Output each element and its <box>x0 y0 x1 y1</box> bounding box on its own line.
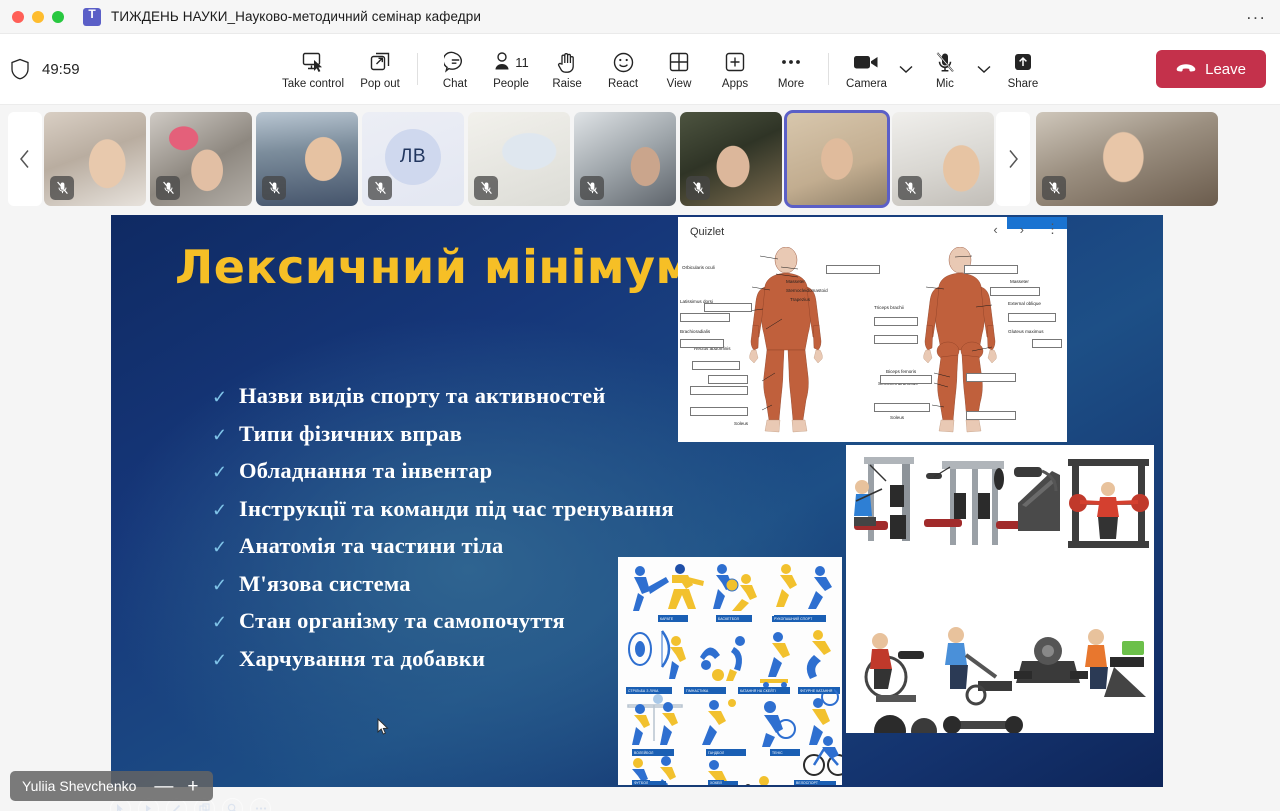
sport-caption: ГАНДБОЛ <box>706 749 726 756</box>
pop-out-icon <box>369 49 391 75</box>
view-grid-icon <box>668 49 690 75</box>
toolbar-left-group: 49:59 <box>0 58 262 80</box>
list-item: ✓ Інструкції та команди під час тренуван… <box>212 496 674 522</box>
pop-out-label: Pop out <box>360 78 400 90</box>
sport-caption: КАРАТЕ <box>658 615 675 622</box>
anatomy-answer-box[interactable] <box>708 375 748 384</box>
pop-out-button[interactable]: Pop out <box>352 46 408 92</box>
gym-equipment-image <box>846 445 1154 733</box>
list-item: ✓ Стан організму та самопочуття <box>212 608 674 634</box>
window-title-bar: ТИЖДЕНЬ НАУКИ_Науково-методичний семінар… <box>0 0 1280 34</box>
close-window-button[interactable] <box>12 11 24 23</box>
list-item: ✓ М'язова система <box>212 571 674 597</box>
filmstrip-next-button[interactable] <box>996 112 1030 206</box>
list-item: ✓ Анатомія та частини тіла <box>212 533 674 559</box>
participant-filmstrip: ЛВ <box>0 105 1280 213</box>
anatomy-diagram: Orbicularis oculi Masseter Sternocleidom… <box>678 243 1067 442</box>
more-ellipsis-icon <box>779 49 803 75</box>
anatomy-answer-box[interactable] <box>966 411 1016 420</box>
more-tools-icon[interactable] <box>250 798 271 811</box>
participant-tile-5[interactable] <box>468 112 570 206</box>
raise-label: Raise <box>552 78 581 90</box>
zoom-controls: — + <box>148 771 212 801</box>
react-button[interactable]: React <box>595 46 651 92</box>
avatar: ЛВ <box>385 129 441 185</box>
anatomy-label: Gluteus maximus <box>1008 329 1044 334</box>
camera-icon <box>852 49 880 75</box>
sport-caption: ХОКЕЙ <box>708 779 724 785</box>
check-icon: ✓ <box>212 463 228 481</box>
bullet-text: Харчування та добавки <box>239 646 485 672</box>
camera-label: Camera <box>846 78 887 90</box>
mic-muted-icon <box>474 176 498 200</box>
people-button[interactable]: 11 People <box>483 46 539 92</box>
camera-options-chevron-down-icon[interactable] <box>895 54 917 84</box>
anatomy-answer-box[interactable] <box>880 375 932 384</box>
shared-content-stage: Лексичний мінімум ✓ Назви видів спорту т… <box>0 213 1280 811</box>
slide-title: Лексичний мінімум <box>175 240 694 294</box>
camera-button[interactable]: Camera <box>838 46 895 92</box>
anatomy-label: Brachioradialis <box>680 329 710 334</box>
share-up-arrow-icon <box>1012 49 1034 75</box>
anatomy-answer-box[interactable] <box>874 335 918 344</box>
bullet-text: Типи фізичних вправ <box>239 421 462 447</box>
mic-muted-icon <box>262 176 286 200</box>
presenter-controls: Yuliia Shevchenko — + <box>10 771 213 801</box>
check-icon: ✓ <box>212 538 228 556</box>
mic-muted-icon <box>50 176 74 200</box>
check-icon: ✓ <box>212 651 228 669</box>
anatomy-label: Biceps femoris <box>886 369 916 374</box>
quizlet-menu-button[interactable]: ⋮ <box>1046 221 1059 237</box>
sport-caption: ВОЛЕЙБОЛ <box>632 749 655 756</box>
anatomy-answer-box[interactable] <box>874 403 930 412</box>
list-item: ✓ Назви видів спорту та активностей <box>212 383 674 409</box>
view-label: View <box>667 78 692 90</box>
anatomy-label: Masseter <box>1010 279 1029 284</box>
presentation-slide[interactable]: Лексичний мінімум ✓ Назви видів спорту т… <box>111 215 1163 787</box>
take-control-button[interactable]: Take control <box>274 46 352 92</box>
take-control-label: Take control <box>282 78 344 90</box>
quizlet-header: Quizlet ‹ › ⋮ <box>678 217 1067 243</box>
magnifier-tool-icon[interactable] <box>222 798 243 811</box>
participant-tile-4[interactable]: ЛВ <box>362 112 464 206</box>
participant-tile-6[interactable] <box>574 112 676 206</box>
sport-caption: БАСКЕТБОЛ <box>716 615 741 622</box>
sport-caption: ФІГУРНЕ КАТАННЯ <box>798 687 834 694</box>
bullet-text: Обладнання та інвентар <box>239 458 492 484</box>
sport-caption: ГІМНАСТИКА <box>684 687 710 694</box>
check-icon: ✓ <box>212 576 228 594</box>
mic-muted-icon <box>156 176 180 200</box>
leave-button[interactable]: Leave <box>1156 50 1266 88</box>
quizlet-nav: ‹ › ⋮ <box>993 221 1059 237</box>
participant-tile-3[interactable] <box>256 112 358 206</box>
bullet-text: М'язова система <box>239 571 411 597</box>
bullet-text: Назви видів спорту та активностей <box>239 383 606 409</box>
sport-caption: ТЕНІС <box>770 749 785 756</box>
chat-icon <box>444 49 467 75</box>
people-count: 11 <box>515 55 529 70</box>
quizlet-anatomy-card: Quizlet ‹ › ⋮ <box>678 217 1067 442</box>
quizlet-next-button[interactable]: › <box>1020 222 1024 237</box>
anatomy-answer-box[interactable] <box>1032 339 1062 348</box>
shield-icon <box>10 58 30 80</box>
maximize-window-button[interactable] <box>52 11 64 23</box>
anatomy-answer-box[interactable] <box>690 407 748 416</box>
sport-caption: РУКОПАШНИЙ СПОРТ <box>772 615 814 622</box>
anatomy-answer-box[interactable] <box>826 265 880 274</box>
filmstrip-prev-button[interactable] <box>8 112 42 206</box>
anatomy-answer-box[interactable] <box>966 373 1016 382</box>
react-label: React <box>608 78 638 90</box>
toolbar-divider-1 <box>417 53 418 85</box>
anatomy-label: Trapezius <box>790 297 810 302</box>
anatomy-label: Soleus <box>890 415 904 420</box>
window-title: ТИЖДЕНЬ НАУКИ_Науково-методичний семінар… <box>111 9 481 24</box>
sport-caption: ВЕЛОСПОРТ <box>794 779 820 785</box>
quizlet-prev-button[interactable]: ‹ <box>993 222 997 237</box>
check-icon: ✓ <box>212 501 228 519</box>
mic-muted-icon <box>368 176 392 200</box>
quizlet-logo: Quizlet <box>690 226 724 238</box>
share-label: Share <box>1008 78 1039 90</box>
mic-button[interactable]: Mic <box>917 46 973 92</box>
anatomy-answer-box[interactable] <box>680 313 730 322</box>
anatomy-answer-box[interactable] <box>964 265 1018 274</box>
meeting-toolbar: 49:59 Take control Pop out <box>0 34 1280 105</box>
anatomy-answer-box[interactable] <box>704 303 752 312</box>
gym-equipment-illustration <box>846 445 1154 733</box>
mic-muted-icon <box>1042 176 1066 200</box>
check-icon: ✓ <box>212 388 228 406</box>
people-label: People <box>493 78 529 90</box>
participant-tile-8-active-speaker[interactable] <box>786 112 888 206</box>
check-icon: ✓ <box>212 426 228 444</box>
mic-muted-icon <box>898 176 922 200</box>
window-traffic-lights[interactable] <box>12 11 64 23</box>
anatomy-answer-box[interactable] <box>680 339 724 348</box>
participant-tile-10[interactable] <box>1036 112 1218 206</box>
take-control-icon <box>301 49 325 75</box>
anatomy-label: Sternocleidomastoid <box>786 288 828 293</box>
list-item: ✓ Обладнання та інвентар <box>212 458 674 484</box>
zoom-in-button[interactable]: + <box>187 777 198 796</box>
mic-muted-icon <box>580 176 604 200</box>
react-smiley-icon <box>612 49 635 75</box>
slide-bullet-list: ✓ Назви видів спорту та активностей ✓ Ти… <box>212 383 674 672</box>
phone-hangup-icon <box>1176 63 1196 76</box>
sport-caption: КАТАННЯ НА СКЕЙТІ <box>738 687 778 694</box>
mic-options-chevron-down-icon[interactable] <box>973 54 995 84</box>
meeting-timer: 49:59 <box>42 61 80 78</box>
share-button[interactable]: Share <box>995 46 1051 92</box>
leave-button-label: Leave <box>1205 61 1246 78</box>
sports-pictograms-image: КАРАТЕ БАСКЕТБОЛ РУКОПАШНИЙ СПОРТ СТРІЛЬ… <box>618 557 842 785</box>
apps-label: Apps <box>722 78 748 90</box>
more-label: More <box>778 78 804 90</box>
participant-tile-2[interactable] <box>150 112 252 206</box>
participant-tile-9[interactable] <box>892 112 994 206</box>
apps-button[interactable]: Apps <box>707 46 763 92</box>
anatomy-label: Orbicularis oculi <box>682 265 715 270</box>
bullet-text: Інструкції та команди під час тренування <box>239 496 674 522</box>
people-icon: 11 <box>493 49 529 75</box>
raise-hand-icon <box>556 49 578 75</box>
anatomy-answer-box[interactable] <box>1008 313 1056 322</box>
participant-tile-7[interactable] <box>680 112 782 206</box>
list-item: ✓ Типи фізичних вправ <box>212 421 674 447</box>
bullet-text: Стан організму та самопочуття <box>239 608 565 634</box>
participant-tile-1[interactable] <box>44 112 146 206</box>
participant-tiles: ЛВ <box>44 112 994 206</box>
bullet-text: Анатомія та частини тіла <box>239 533 504 559</box>
toolbar-right-group: Leave <box>1146 50 1280 88</box>
sport-caption: ФУТБОЛ <box>632 779 650 785</box>
list-item: ✓ Харчування та добавки <box>212 646 674 672</box>
mic-muted-icon <box>686 176 710 200</box>
teams-icon <box>83 8 101 26</box>
toolbar-divider-2 <box>828 53 829 85</box>
mic-label: Mic <box>936 78 954 90</box>
raise-hand-button[interactable]: Raise <box>539 46 595 92</box>
anatomy-answer-box[interactable] <box>692 361 740 370</box>
view-button[interactable]: View <box>651 46 707 92</box>
sport-caption: СТРІЛЬБА З ЛУКА <box>626 687 661 694</box>
anatomy-label: Triceps brachii <box>874 305 904 310</box>
anatomy-answer-box[interactable] <box>990 287 1040 296</box>
minimize-window-button[interactable] <box>32 11 44 23</box>
chat-label: Chat <box>443 78 467 90</box>
apps-plus-icon <box>724 49 746 75</box>
anterior-body-figure <box>740 247 832 437</box>
toolbar-center-group: Take control Pop out Chat <box>262 46 1146 92</box>
anatomy-label: Masseter <box>786 279 805 284</box>
anatomy-label: Soleus <box>734 421 748 426</box>
anatomy-answer-box[interactable] <box>874 317 918 326</box>
more-button[interactable]: More <box>763 46 819 92</box>
mouse-cursor <box>377 718 389 736</box>
anatomy-label: External oblique <box>1008 301 1041 306</box>
anatomy-answer-box[interactable] <box>690 386 748 395</box>
check-icon: ✓ <box>212 613 228 631</box>
zoom-out-button[interactable]: — <box>154 777 173 796</box>
chat-button[interactable]: Chat <box>427 46 483 92</box>
presenter-name: Yuliia Shevchenko <box>10 771 148 801</box>
mic-muted-icon <box>934 49 956 75</box>
window-more-button[interactable]: ··· <box>1246 8 1266 25</box>
